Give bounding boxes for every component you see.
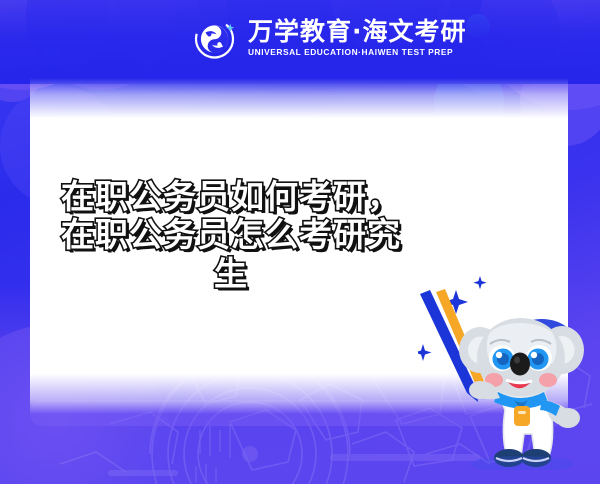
nose — [510, 353, 530, 376]
brand-text: 万学教育·海文考研 UNIVERSAL EDUCATION·HAIWEN TES… — [248, 19, 467, 56]
koala-mascot — [418, 272, 594, 470]
badge — [514, 406, 530, 426]
cheek-right — [539, 373, 557, 387]
universal-education-swirl-logo-icon — [193, 15, 239, 61]
brand-name-en: UNIVERSAL EDUCATION·HAIWEN TEST PREP — [248, 48, 467, 56]
brand-name-cn: 万学教育·海文考研 — [248, 19, 467, 44]
page-title: 在职公务员如何考研，在职公务员怎么考研究生 — [56, 178, 406, 293]
brand-logo[interactable]: 万学教育·海文考研 UNIVERSAL EDUCATION·HAIWEN TES… — [193, 12, 467, 64]
eye-right — [526, 345, 552, 371]
poster-canvas: 万学教育·海文考研 UNIVERSAL EDUCATION·HAIWEN TES… — [0, 0, 600, 484]
